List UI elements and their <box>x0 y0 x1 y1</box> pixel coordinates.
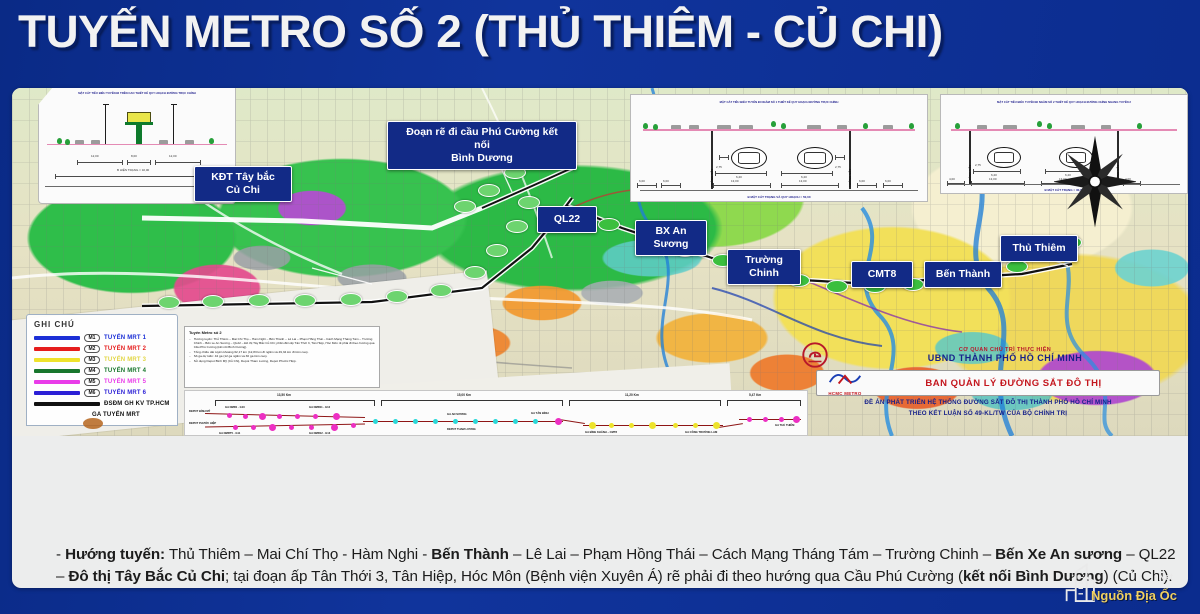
station-marker[interactable] <box>598 218 620 231</box>
profile-label: DEPOT THAM LƯƠNG <box>447 428 476 431</box>
callout-ben-thanh[interactable]: Bến Thành <box>924 261 1002 288</box>
callout-doan-re-phu-cuong[interactable]: Đoạn rẽ đi cầu Phú Cường kết nối Bình Dư… <box>387 121 577 170</box>
slide-header: TUYẾN METRO SỐ 2 (THỦ THIÊM - CỦ CHI) <box>0 0 1200 88</box>
page-title: TUYẾN METRO SỐ 2 (THỦ THIÊM - CỦ CHI) <box>18 6 943 58</box>
callout-thu-thiem[interactable]: Thủ Thiêm <box>1000 235 1078 262</box>
authority-agency-name: BAN QUẢN LÝ ĐƯỜNG SẮT ĐÔ THỊ <box>874 378 1153 389</box>
legend-row: M4 TUYẾN MRT 4 <box>34 365 171 376</box>
profile-label: DEPOT PHƯỚC HIỆP <box>189 422 216 425</box>
callout-kdt-tay-bac-cu-chi[interactable]: KĐT Tây bắc Củ Chi <box>194 166 292 202</box>
station-marker[interactable] <box>294 294 316 307</box>
legend-chip: M6 <box>84 389 100 397</box>
legend-color-swatch <box>34 380 80 384</box>
profile-brace-label: 15,00 Km <box>457 393 471 397</box>
legend-chip: M5 <box>84 378 100 386</box>
info-title: Tuyến Metro số 2 <box>189 330 375 335</box>
legend-chip: M4 <box>84 367 100 375</box>
tunnel-bore-icon-3 <box>987 147 1021 168</box>
tunnel-bore-icon <box>731 147 767 169</box>
profile-label: GA AN SƯƠNG <box>447 413 467 416</box>
project-line-2: THEO KẾT LUẬN SỐ 49-KL/TW CỦA BỘ CHÍNH T… <box>802 409 1174 420</box>
legend-color-swatch <box>34 391 80 395</box>
legend-label: TUYẾN MRT 4 <box>104 368 146 374</box>
metro-logo-text: HCMC METRO <box>823 391 867 396</box>
profile-brace-label: 11,20 Km <box>625 393 639 397</box>
station-marker[interactable] <box>340 293 362 306</box>
hcmc-seal-icon <box>802 342 828 368</box>
legend-label: GA TUYẾN MRT <box>92 412 140 418</box>
station-marker[interactable] <box>486 244 508 257</box>
legend-row: M2 TUYẾN MRT 2 <box>34 343 171 354</box>
authority-footer: ĐỀ ÁN PHÁT TRIỂN HỆ THỐNG ĐƯỜNG SẮT ĐÔ T… <box>802 398 1174 419</box>
legend-chip: M1 <box>84 334 100 342</box>
desc-text: – Lê Lai – Phạm Hồng Thái – Cách Mạng Th… <box>509 546 995 563</box>
legend-label: TUYẾN MRT 6 <box>104 390 146 396</box>
authority-name: UBND THÀNH PHỐ HỒ CHÍ MINH <box>836 353 1174 363</box>
tunnel-bore-icon-2 <box>797 147 833 169</box>
station-marker[interactable] <box>478 184 500 197</box>
profile-label: GA THỦ THIÊM <box>775 424 794 427</box>
legend-chip: M2 <box>84 345 100 353</box>
hcmc-metro-logo-icon: HCMC METRO <box>823 372 867 394</box>
profile-label: GA NMR1 - G10 <box>225 406 245 409</box>
legend-station-swatch <box>83 418 103 429</box>
legend-row: M6 TUYẾN MRT 6 <box>34 387 171 398</box>
viaduct-pier-icon <box>136 124 142 144</box>
callout-bx-an-suong[interactable]: BX An Sương <box>635 220 707 256</box>
route-description: - Hướng tuyến: Thủ Thiêm – Mai Chí Thọ -… <box>56 544 1176 588</box>
desc-emphasis: Hướng tuyến: <box>65 546 165 563</box>
desc-bullet-huong-tuyen: - Hướng tuyến: Thủ Thiêm – Mai Chí Thọ -… <box>56 544 1176 588</box>
station-marker[interactable] <box>158 296 180 309</box>
legend-row: GA TUYẾN MRT <box>34 409 171 420</box>
profile-label: DEPOT BÌNH MỸ <box>189 410 210 413</box>
profile-label: GA NMRT5 - G11 <box>219 432 240 435</box>
callout-ql22[interactable]: QL22 <box>537 206 597 233</box>
station-marker[interactable] <box>430 284 452 297</box>
profile-label: GA TÂN BÌNH <box>531 412 549 415</box>
desc-emphasis: Đô thị Tây Bắc Củ Chi <box>68 568 225 585</box>
legend-label: TUYẾN MRT 1 <box>104 335 146 341</box>
station-marker[interactable] <box>506 220 528 233</box>
compass-rose-icon <box>1054 130 1136 230</box>
profile-brace-label: 13,50 Km <box>277 393 291 397</box>
map-info-block: Tuyến Metro số 2 – Hướng tuyến: Thủ Thiê… <box>184 326 380 388</box>
legend-row: M3 TUYẾN MRT 3 <box>34 354 171 365</box>
desc-text: Thủ Thiêm – Mai Chí Thọ - Hàm Nghi - <box>165 546 431 563</box>
watermark: .Net Nguồn Địa Ốc <box>1063 560 1193 612</box>
legend-color-swatch <box>34 336 80 340</box>
station-marker[interactable] <box>826 280 848 293</box>
authority-agency-bar: HCMC METRO BAN QUẢN LÝ ĐƯỜNG SẮT ĐÔ THỊ <box>816 370 1160 396</box>
info-line: – Hướng tuyến: Thủ Thiêm – Mai Chí Thọ –… <box>189 337 375 350</box>
legend-title: GHI CHÚ <box>34 320 171 329</box>
station-marker[interactable] <box>248 294 270 307</box>
watermark-suffix: .Net <box>1156 572 1173 582</box>
desc-text: - <box>56 546 65 563</box>
authority-panel: CƠ QUAN CHỦ TRÌ THỰC HIỆN UBND THÀNH PHỐ… <box>802 340 1174 424</box>
station-marker[interactable] <box>202 295 224 308</box>
info-line: – Sử dụng Depot Bình Mỹ (Củ Chi), Depot … <box>189 359 375 363</box>
legend-label: TUYẾN MRT 5 <box>104 379 146 385</box>
station-marker[interactable] <box>464 266 486 279</box>
desc-emphasis: Bến Thành <box>431 546 509 563</box>
legend-color-swatch <box>34 413 80 417</box>
callout-truong-chinh[interactable]: Trường Chinh <box>727 249 801 285</box>
metro-line-map[interactable]: TỈNH LONG AN MẶT CẮT TIÊU BIỂU TUYẾN ĐI … <box>12 88 1188 436</box>
authority-header: CƠ QUAN CHỦ TRÌ THỰC HIỆN UBND THÀNH PHỐ… <box>802 340 1174 370</box>
legend-label: ĐSĐM GH KV TP.HCM <box>104 401 170 407</box>
legend-color-swatch <box>34 358 80 362</box>
legend-color-swatch <box>34 402 100 406</box>
legend-color-swatch <box>34 347 80 351</box>
project-line-1: ĐỀ ÁN PHÁT TRIỂN HỆ THỐNG ĐƯỜNG SẮT ĐÔ T… <box>802 398 1174 409</box>
station-marker[interactable] <box>454 200 476 213</box>
legend-chip: M3 <box>84 356 100 364</box>
legend-color-swatch <box>34 369 80 373</box>
map-legend: GHI CHÚ M1 TUYẾN MRT 1 M2 TUYẾN MRT 2 M3… <box>26 314 178 426</box>
content-card: TỈNH LONG AN MẶT CẮT TIÊU BIỂU TUYẾN ĐI … <box>12 88 1188 588</box>
desc-text: ; tại đoạn ấp Tân Thới 3, Tân Hiệp, Hóc … <box>225 568 963 585</box>
legend-label: TUYẾN MRT 3 <box>104 357 146 363</box>
profile-label: GA CÔNG TRƯỜNG LAM <box>685 431 717 434</box>
profile-label: GA NMR12 - G13 <box>309 432 330 435</box>
legend-label: TUYẾN MRT 2 <box>104 346 146 352</box>
station-marker[interactable] <box>386 290 408 303</box>
profile-label: GA NMR11 - G12 <box>309 406 330 409</box>
legend-row: M1 TUYẾN MRT 1 <box>34 332 171 343</box>
callout-cmt8[interactable]: CMT8 <box>851 261 913 288</box>
profile-label: GA BÌNH KHÁNH – CMT8 <box>585 431 617 434</box>
line-profile-diagram: 13,50 Km 15,00 Km 11,20 Km 5,47 Km <box>184 390 808 436</box>
profile-brace-label: 5,47 Km <box>749 393 761 397</box>
legend-row: ĐSĐM GH KV TP.HCM <box>34 398 171 409</box>
legend-row: M5 TUYẾN MRT 5 <box>34 376 171 387</box>
watermark-text: Nguồn Địa Ốc <box>1091 588 1177 603</box>
inset-tunnel-cross-section-1: MẶT CẮT TIÊU BIỂU TUYẾN ĐI NGẦM SỐ 1 THI… <box>630 94 928 202</box>
